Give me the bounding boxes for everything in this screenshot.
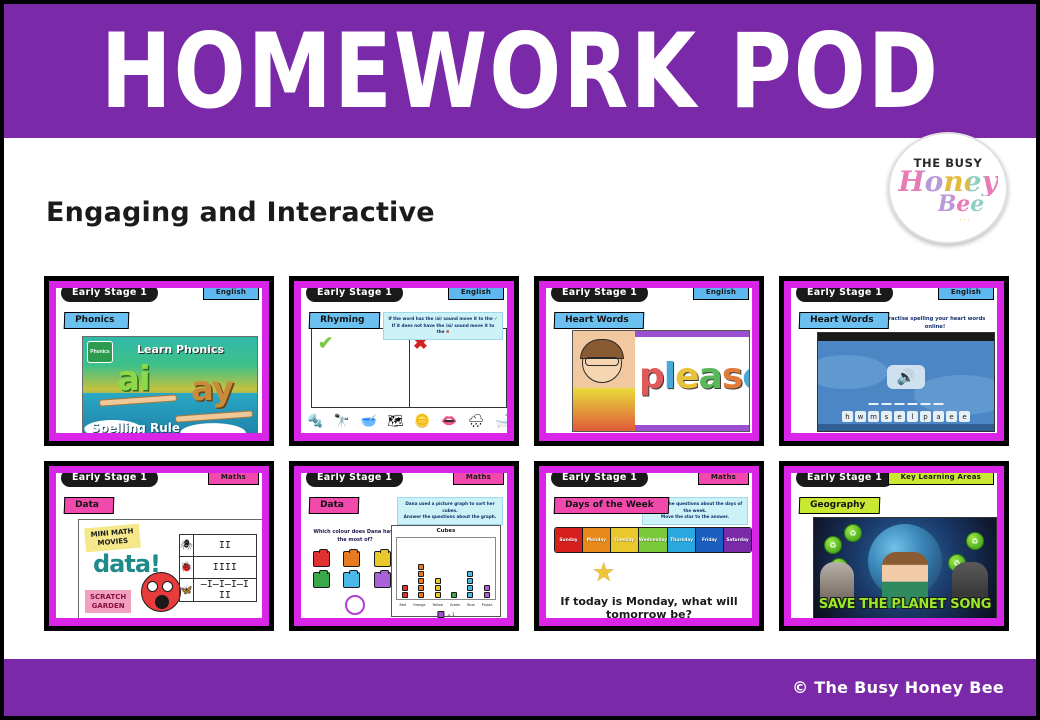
heart-word-please: please [639,359,750,395]
chart-unit-square [467,578,473,584]
section-subtitle: Engaging and Interactive [46,197,435,228]
chart-unit-square [418,564,424,570]
stage-badge: Early Stage 1 [306,288,403,302]
picture-card[interactable]: 👄 [441,414,457,427]
tally-table: 🕷II🐞IIII🦋̶I̶I̶I̶I II [179,534,257,602]
recycle-icon: ♻ [966,532,984,550]
subject-tag: Maths [698,473,749,485]
table-row: 🦋̶I̶I̶I̶I II [180,579,257,602]
divider [409,329,410,407]
instruction-line-2: Move the star to the answer. [647,514,743,521]
word-letter: l [664,356,675,397]
chart-column [418,564,424,598]
recycle-icon: ♻ [844,524,862,542]
letter-tile[interactable]: h [842,411,853,422]
hair-shape [580,339,624,359]
chart-x-axis-labels: RedOrangeYellowGreenBluePurple [396,603,496,607]
grapheme-ai: ai [117,359,150,399]
card-inner: Early Stage 1 Maths Data Dana used a pic… [301,473,507,618]
card-frame: Early Stage 1 English Phonics Phonics Le… [49,281,269,441]
card-frame: Early Stage 1 Maths Data MINI MATH MOVIE… [49,466,269,626]
brand-logo: THE BUSY Honey Bee ··· [888,132,1008,244]
stage-badge: Early Stage 1 [796,288,893,302]
card-grid: Early Stage 1 English Phonics Phonics Le… [44,276,1009,631]
chart-x-tick: Yellow [432,603,442,607]
chart-title: Cubes [392,526,500,534]
stage-badge: Early Stage 1 [551,288,648,302]
tally-marks: II [193,535,256,557]
card-picture-graph[interactable]: Early Stage 1 Maths Data Dana used a pic… [289,461,519,631]
day-question: If today is Monday, what will tomorrow b… [546,595,752,618]
chart-column [484,585,490,598]
chart-column [402,585,408,598]
chart-x-tick: Purple [482,603,493,607]
word-letter: a [699,356,722,397]
copyright-text: © The Busy Honey Bee [792,678,1004,697]
eye-shape [147,581,158,592]
word-letter: s [722,356,742,397]
chart-plot-area [396,537,496,600]
cube-palette[interactable] [313,551,399,588]
decor-bar [631,425,749,431]
cube-swatch[interactable] [343,572,360,588]
card-frame: Early Stage 1 Key Learning Areas Geograp… [784,466,1004,626]
cube-swatch[interactable] [374,551,391,567]
cube-swatch[interactable] [313,572,330,588]
answer-blanks [869,403,944,405]
chart-unit-square [435,592,441,598]
word-letter: e [675,356,698,397]
answer-circle[interactable] [345,595,365,615]
chart-x-tick: Green [450,603,460,607]
card-frame: Early Stage 1 English Heart Words Practi… [784,281,1004,441]
letter-tile[interactable]: w [855,411,866,422]
card-rhyming[interactable]: Early Stage 1 English Rhyming If the wor… [289,276,519,446]
card-frame: Early Stage 1 Maths Data Dana used a pic… [294,466,514,626]
instruction-banner: Practise spelling your heart words onlin… [877,312,993,334]
days-of-week-strip[interactable]: SundayMondayTuesdayWednesdayThursdayFrid… [554,527,752,553]
game-topbar [818,333,994,341]
glasses-icon [585,357,619,366]
chart-unit-square [435,578,441,584]
letter-tile[interactable]: p [920,411,931,422]
word-letter: p [639,356,664,397]
data-video-thumbnail[interactable]: MINI MATH MOVIES data! SCRATCH GARDEN [78,519,262,618]
card-frame: Early Stage 1 English Heart Words please [539,281,759,441]
chart-x-tick: Blue [467,603,475,607]
topic-label: Phonics [64,312,130,329]
mini-math-movies-label: MINI MATH MOVIES [84,524,141,552]
instruction-line-2: Answer the questions about the graph. [402,514,498,521]
picture-card[interactable]: 🔭 [334,414,350,427]
letter-tile[interactable]: e [959,411,970,422]
topic-label: Heart Words [554,312,644,329]
chart-unit-square [435,585,441,591]
stage-badge: Early Stage 1 [61,288,158,302]
card-phonics[interactable]: Early Stage 1 English Phonics Phonics Le… [44,276,274,446]
day-tile[interactable]: Wednesday [639,528,668,552]
instruction-line-2: If it does not have the /ai/ sound move … [388,323,498,336]
sorting-box[interactable]: ✔ ✖ [311,328,507,408]
card-data-video[interactable]: Early Stage 1 Maths Data MINI MATH MOVIE… [44,461,274,631]
subject-tag: Maths [208,473,259,485]
letter-tile[interactable]: a [933,411,944,422]
chart-unit-square [467,571,473,577]
chart-unit-square [402,592,408,598]
day-tile[interactable]: Thursday [668,528,696,552]
chart-x-tick: Orange [413,603,426,607]
thumb-title: Learn Phonics [137,343,224,356]
topic-label: Data [309,497,360,514]
subject-tag: English [448,288,504,300]
letter-tile[interactable]: e [894,411,905,422]
page-header: HOMEWORK POD [4,4,1036,138]
card-inner: Early Stage 1 English Phonics Phonics Le… [56,288,262,433]
cloud-shape [817,355,888,389]
subject-tag: English [203,288,259,300]
cloud-shape [914,375,995,415]
picture-card-strip[interactable]: 🔩🔭🥣🗺🪙👄🌧🛁 [307,410,507,430]
table-row: 🐞IIII [180,557,257,579]
topic-label: Geography [799,497,881,514]
chart-unit-square [418,585,424,591]
eye-shape [162,581,173,592]
heart-words-video-thumbnail[interactable]: please [572,330,750,432]
chart-unit-square [467,592,473,598]
card-inner: Early Stage 1 English Heart Words Practi… [791,288,997,433]
topic-label: Days of the Week [554,497,669,514]
letter-tile[interactable]: m [868,411,879,422]
subject-tag: Maths [453,473,504,485]
thumb-title: SAVE THE PLANET SONG [814,597,996,612]
card-heart-words-video[interactable]: Early Stage 1 English Heart Words please [534,276,764,446]
picture-graph: Cubes RedOrangeYellowGreenBluePurple = 1 [391,525,501,617]
cartoon-face [141,572,181,612]
speaker-icon[interactable]: 🔊 [887,365,925,389]
scratch-garden-logo: SCRATCH GARDEN [85,590,131,613]
day-tile[interactable]: Friday [696,528,724,552]
logo-dots: ··· [959,214,971,224]
bug-icon: 🦋 [180,579,194,602]
card-geography[interactable]: Early Stage 1 Key Learning Areas Geograp… [779,461,1009,631]
topic-label: Rhyming [309,312,380,329]
card-inner: Early Stage 1 English Rhyming If the wor… [301,288,507,433]
card-inner: Early Stage 1 Maths Days of the Week Ans… [546,473,752,618]
recycle-icon: ♻ [824,536,842,554]
picture-card[interactable]: 🔩 [307,414,323,427]
decor-bar [631,331,749,337]
bug-icon: 🐞 [180,557,194,579]
phonics-logo-badge: Phonics [87,341,113,363]
topic-label: Heart Words [799,312,889,329]
stage-badge: Early Stage 1 [61,473,158,487]
chart-column [451,592,457,598]
stage-badge: Early Stage 1 [306,473,403,487]
chart-unit-square [484,585,490,591]
day-tile[interactable]: Sunday [555,528,583,552]
subject-tag: English [693,288,749,300]
instruction-line-1: Dana used a picture graph to sort her cu… [402,501,498,514]
chart-unit-square [402,585,408,591]
card-days-of-week[interactable]: Early Stage 1 Maths Days of the Week Ans… [534,461,764,631]
chart-legend: = 1 [437,611,454,618]
day-tile[interactable]: Monday [583,528,611,552]
chart-column [467,571,473,598]
tally-marks: IIII [193,557,256,579]
teacher-avatar [573,331,635,431]
star-icon[interactable]: ★ [592,559,615,585]
word-letter: e [742,356,750,397]
instruction-banner: Dana used a picture graph to sort her cu… [397,497,503,525]
picture-card[interactable]: 🗺 [387,414,404,427]
chart-column [435,578,441,598]
instruction-banner: If the word has the /ai/ sound move it t… [383,312,503,340]
instruction-line-1: Practise spelling your heart words onlin… [881,315,989,331]
tick-icon: ✔ [318,333,333,354]
day-tile[interactable]: Tuesday [611,528,639,552]
stage-badge: Early Stage 1 [551,473,648,487]
bug-icon: 🕷 [180,535,194,557]
page-title: HOMEWORK POD [100,19,939,123]
table-row: 🕷II [180,535,257,557]
grapheme-ay: ay [191,369,233,409]
chart-unit-square [418,592,424,598]
card-frame: Early Stage 1 English Rhyming If the wor… [294,281,514,441]
subject-tag: English [938,288,994,300]
page-footer: © The Busy Honey Bee [4,659,1036,716]
chart-unit-square [484,592,490,598]
cross-icon: ✖ [446,329,450,334]
letter-tile[interactable]: l [907,411,918,422]
spelling-game-thumbnail[interactable]: 🔊 hwmselpaee [817,332,995,432]
letter-tiles[interactable]: hwmselpaee [842,411,970,422]
graph-question: Which colour does Dana have the most of? [309,529,401,544]
card-heart-words-game[interactable]: Early Stage 1 English Heart Words Practi… [779,276,1009,446]
chart-x-tick: Red [400,603,406,607]
phonics-video-thumbnail[interactable]: Phonics Learn Phonics ai ay Spelling Rul… [82,336,258,433]
thumb-footer-text: Spelling Rule [91,421,180,433]
picture-card[interactable]: 🥣 [360,414,376,427]
chart-unit-square [451,592,457,598]
card-frame: Early Stage 1 Maths Days of the Week Ans… [539,466,759,626]
card-inner: Early Stage 1 Maths Data MINI MATH MOVIE… [56,473,262,618]
letter-tile[interactable]: e [946,411,957,422]
planet-song-thumbnail[interactable]: ♻ ♻ ♻ ♻ ♻ SAVE THE PLANET SONG [813,517,997,618]
logo-bee-text: Bee [938,194,985,215]
cube-swatch[interactable] [313,551,330,567]
tally-marks: ̶I̶I̶I̶I II [193,579,256,602]
cube-swatch[interactable] [374,572,391,588]
chart-unit-square [418,571,424,577]
card-inner: Early Stage 1 English Heart Words please [546,288,752,433]
tick-icon: ✔ [494,316,498,321]
picture-card[interactable]: 🌧 [468,414,485,427]
picture-card[interactable]: 🛁 [495,414,507,427]
picture-card[interactable]: 🪙 [414,414,430,427]
card-inner: Early Stage 1 Key Learning Areas Geograp… [791,473,997,618]
topic-label: Data [64,497,115,514]
letter-tile[interactable]: s [881,411,892,422]
mouth-shape [155,595,169,609]
poster-page: HOMEWORK POD THE BUSY Honey Bee ··· Enga… [0,0,1040,720]
legend-label: = 1 [447,612,454,617]
game-bottombar [818,424,994,431]
legend-swatch [437,611,444,618]
chart-unit-square [418,578,424,584]
day-tile[interactable]: Saturday [724,528,751,552]
subject-tag: Key Learning Areas [888,473,994,485]
cube-swatch[interactable] [343,551,360,567]
chart-unit-square [467,585,473,591]
stage-badge: Early Stage 1 [796,473,893,487]
